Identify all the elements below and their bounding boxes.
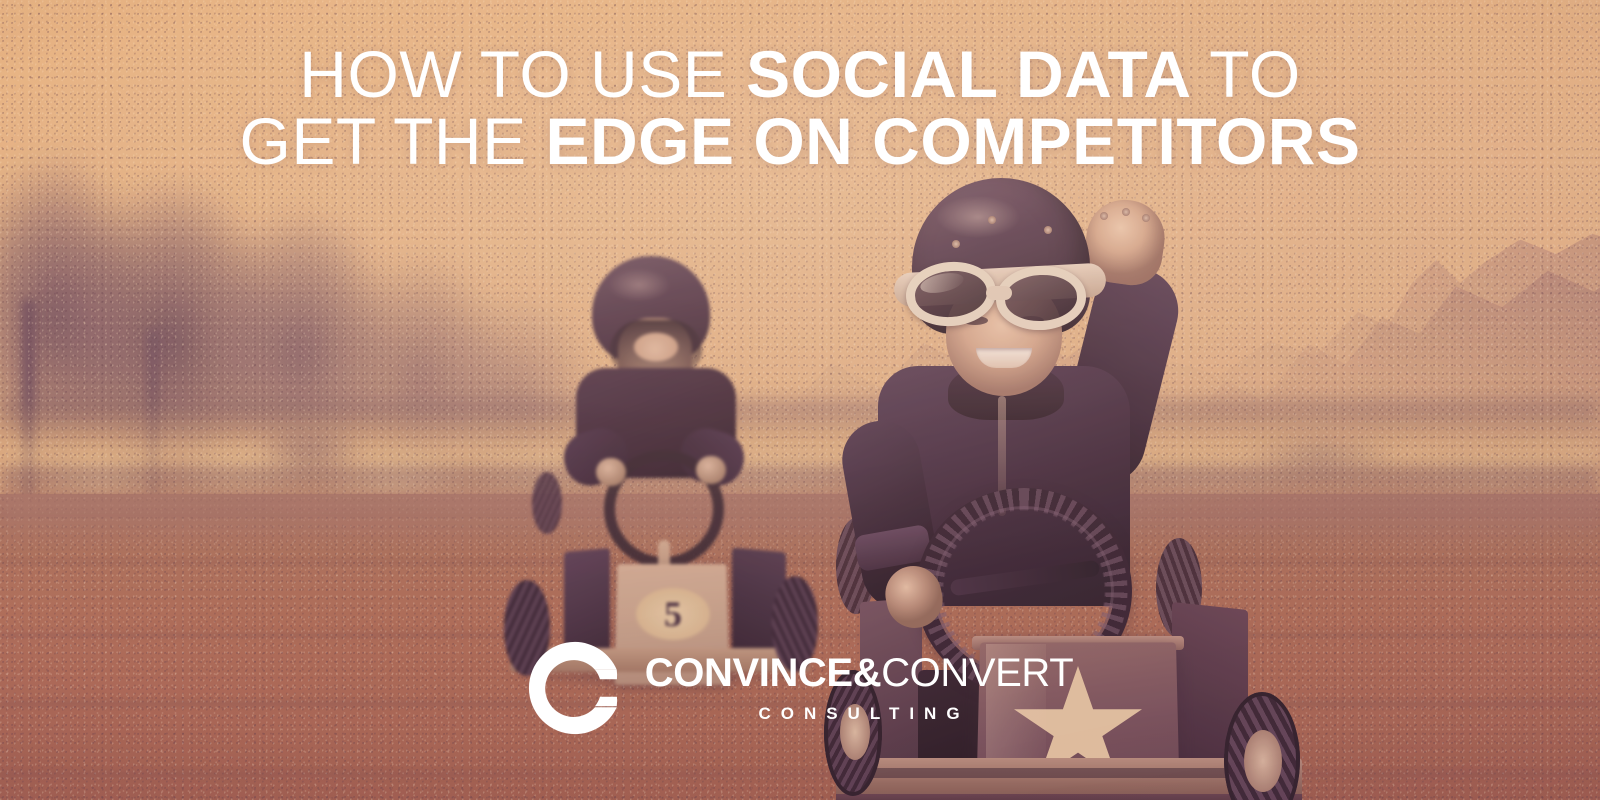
headline-line-2: GET THE EDGE ON COMPETITORS (0, 111, 1600, 172)
headline-line2-light: GET THE (239, 104, 545, 178)
logo-word-bold: CONVINCE& (645, 651, 881, 695)
headline-line1-bold: SOCIAL DATA (746, 37, 1192, 111)
logo-word-light: CONVERT (881, 651, 1073, 695)
blog-banner: 5 (0, 0, 1600, 800)
logo-wordmark: CONVINCE&CONVERT (645, 653, 1073, 693)
headline-line-1: HOW TO USE SOCIAL DATA TO (0, 44, 1600, 105)
logo-subtitle: CONSULTING (758, 704, 969, 724)
brand-logo[interactable]: CONVINCE&CONVERT CONSULTING (0, 640, 1600, 736)
headline-line1-light-a: HOW TO USE (299, 37, 746, 111)
page-title: HOW TO USE SOCIAL DATA TO GET THE EDGE O… (0, 44, 1600, 171)
headline-line1-light-b: TO (1192, 37, 1301, 111)
convince-convert-c-mark-icon (527, 640, 623, 736)
headline-line2-bold: EDGE ON COMPETITORS (545, 104, 1360, 178)
logo-wordmark-group: CONVINCE&CONVERT CONSULTING (645, 653, 1073, 724)
